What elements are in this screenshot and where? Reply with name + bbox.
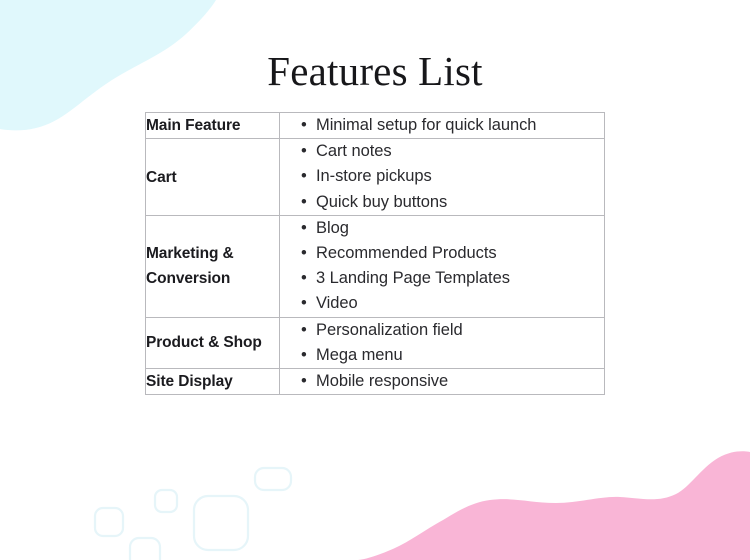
bullet-icon: •	[301, 291, 307, 316]
feature-list: •Blog •Recommended Products •3 Landing P…	[280, 216, 604, 317]
features-cell: •Cart notes •In-store pickups •Quick buy…	[280, 139, 605, 216]
list-item: •Recommended Products	[280, 241, 604, 266]
category-label: Marketing & Conversion	[146, 241, 279, 291]
category-label: Site Display	[146, 369, 279, 394]
table-row: Main Feature •Minimal setup for quick la…	[146, 113, 605, 139]
feature-list: •Cart notes •In-store pickups •Quick buy…	[280, 139, 604, 215]
feature-list: •Personalization field •Mega menu	[280, 318, 604, 368]
rounded-square-small-a	[95, 508, 123, 536]
list-item-label: Personalization field	[316, 321, 463, 339]
slide-canvas: Features List Main Feature •Minimal setu…	[0, 0, 750, 560]
features-table-body: Main Feature •Minimal setup for quick la…	[146, 113, 605, 395]
list-item: •3 Landing Page Templates	[280, 266, 604, 291]
list-item: •In-store pickups	[280, 164, 604, 189]
list-item: •Blog	[280, 216, 604, 241]
table-row: Marketing & Conversion •Blog •Recommende…	[146, 215, 605, 317]
rounded-square-large	[194, 496, 248, 550]
category-cell: Cart	[146, 139, 280, 216]
list-item-label: Mobile responsive	[316, 372, 448, 390]
bullet-icon: •	[301, 318, 307, 343]
bullet-icon: •	[301, 369, 307, 394]
list-item: •Personalization field	[280, 318, 604, 343]
list-item-label: Minimal setup for quick launch	[316, 116, 536, 134]
features-cell: •Blog •Recommended Products •3 Landing P…	[280, 215, 605, 317]
page-title: Features List	[0, 48, 750, 94]
rounded-square-small-c	[130, 538, 160, 560]
category-label: Main Feature	[146, 113, 279, 138]
list-item-label: Mega menu	[316, 346, 403, 364]
bullet-icon: •	[301, 343, 307, 368]
table-row: Product & Shop •Personalization field •M…	[146, 317, 605, 368]
list-item-label: Cart notes	[316, 142, 392, 160]
category-label: Product & Shop	[146, 330, 279, 355]
pink-blob	[358, 451, 750, 560]
category-cell: Product & Shop	[146, 317, 280, 368]
list-item-label: Quick buy buttons	[316, 193, 447, 211]
table-row: Cart •Cart notes •In-store pickups •Quic…	[146, 139, 605, 216]
list-item-label: 3 Landing Page Templates	[316, 269, 510, 287]
list-item-label: Video	[316, 294, 358, 312]
table-row: Site Display •Mobile responsive	[146, 369, 605, 395]
features-cell: •Mobile responsive	[280, 369, 605, 395]
category-label: Cart	[146, 165, 279, 190]
features-cell: •Personalization field •Mega menu	[280, 317, 605, 368]
rounded-square-decor-group	[95, 468, 291, 560]
bullet-icon: •	[301, 113, 307, 138]
list-item: •Video	[280, 291, 604, 316]
bullet-icon: •	[301, 139, 307, 164]
list-item: •Quick buy buttons	[280, 190, 604, 215]
category-cell: Marketing & Conversion	[146, 215, 280, 317]
features-table: Main Feature •Minimal setup for quick la…	[145, 112, 605, 395]
category-cell: Site Display	[146, 369, 280, 395]
bullet-icon: •	[301, 164, 307, 189]
list-item-label: Blog	[316, 219, 349, 237]
rounded-square-small-d	[255, 468, 291, 490]
list-item: •Minimal setup for quick launch	[280, 113, 604, 138]
list-item: •Mobile responsive	[280, 369, 604, 394]
bullet-icon: •	[301, 241, 307, 266]
category-cell: Main Feature	[146, 113, 280, 139]
rounded-square-small-b	[155, 490, 177, 512]
list-item-label: In-store pickups	[316, 167, 432, 185]
list-item: •Cart notes	[280, 139, 604, 164]
list-item: •Mega menu	[280, 343, 604, 368]
feature-list: •Minimal setup for quick launch	[280, 113, 604, 138]
feature-list: •Mobile responsive	[280, 369, 604, 394]
bullet-icon: •	[301, 190, 307, 215]
bullet-icon: •	[301, 266, 307, 291]
list-item-label: Recommended Products	[316, 244, 497, 262]
features-cell: •Minimal setup for quick launch	[280, 113, 605, 139]
bullet-icon: •	[301, 216, 307, 241]
